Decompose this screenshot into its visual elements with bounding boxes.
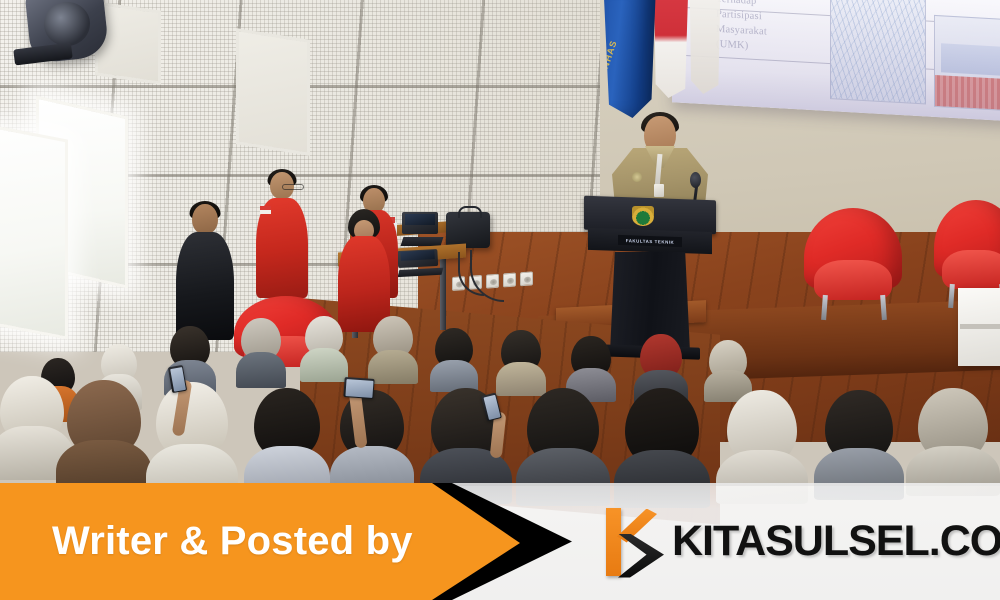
laptop-lid [402, 212, 438, 234]
audience-member [300, 316, 348, 382]
flag-white [686, 0, 722, 94]
laptop-lid [397, 249, 438, 268]
man-head [192, 204, 218, 234]
screen-vignette [672, 0, 1000, 122]
smartphone-2 [343, 377, 374, 399]
red-tub-chair-1 [804, 208, 902, 320]
wall-outlet-4 [503, 273, 516, 288]
projection-screen: Peraturan Regulasi Terhadap Partisipasi … [672, 0, 1000, 122]
chair-seat [942, 250, 1000, 289]
audience-member-front [330, 390, 414, 498]
logo-wordmark: KITASULSEL.COM [672, 517, 1000, 566]
audience-member [236, 318, 286, 388]
indonesian-flag-patch-icon [260, 206, 271, 214]
podium-nameplate-text: FAKULTAS TEKNIK [626, 238, 675, 245]
audience-member [496, 330, 546, 396]
audience-shoulders [368, 350, 418, 384]
laptop-screen [401, 250, 435, 260]
glasses-icon [282, 184, 304, 190]
logo-k-upper-arm [617, 509, 657, 543]
laptop-bag [446, 212, 490, 248]
flag-indonesian [650, 0, 690, 98]
crew-head [270, 172, 294, 199]
chair-leg-left [948, 284, 955, 308]
branding-banner: Writer & Posted by KITASULSEL.COM [0, 483, 1000, 600]
window-middle [236, 28, 310, 156]
microphone-icon [690, 172, 701, 188]
wall-outlet-5 [520, 271, 533, 286]
logo-k-stem [606, 508, 621, 576]
presenter-uniform-patch [632, 172, 642, 182]
audience-shoulders [236, 352, 286, 388]
phone-screen [345, 379, 373, 398]
banner-tagline: Writer & Posted by [52, 483, 413, 600]
logo-k-mark-icon [604, 506, 666, 578]
laptop-2 [397, 249, 438, 277]
window-bright-1 [0, 116, 68, 339]
screenshot-root: Peraturan Regulasi Terhadap Partisipasi … [0, 0, 1000, 600]
chair-seat [814, 260, 892, 300]
presenter-id-badge [654, 184, 664, 197]
audience-member [430, 328, 478, 392]
university-crest-icon [632, 206, 654, 226]
laptop-1 [402, 212, 438, 246]
laptop-screen [405, 214, 435, 225]
crew-red-jacket-standing [256, 172, 308, 298]
audience-member [368, 316, 418, 384]
audience-member-front [56, 380, 152, 496]
audience-shoulders [300, 348, 348, 382]
phone-screen [170, 367, 186, 392]
audience-member-front [906, 388, 1000, 496]
site-logo[interactable]: KITASULSEL.COM [604, 483, 1000, 600]
